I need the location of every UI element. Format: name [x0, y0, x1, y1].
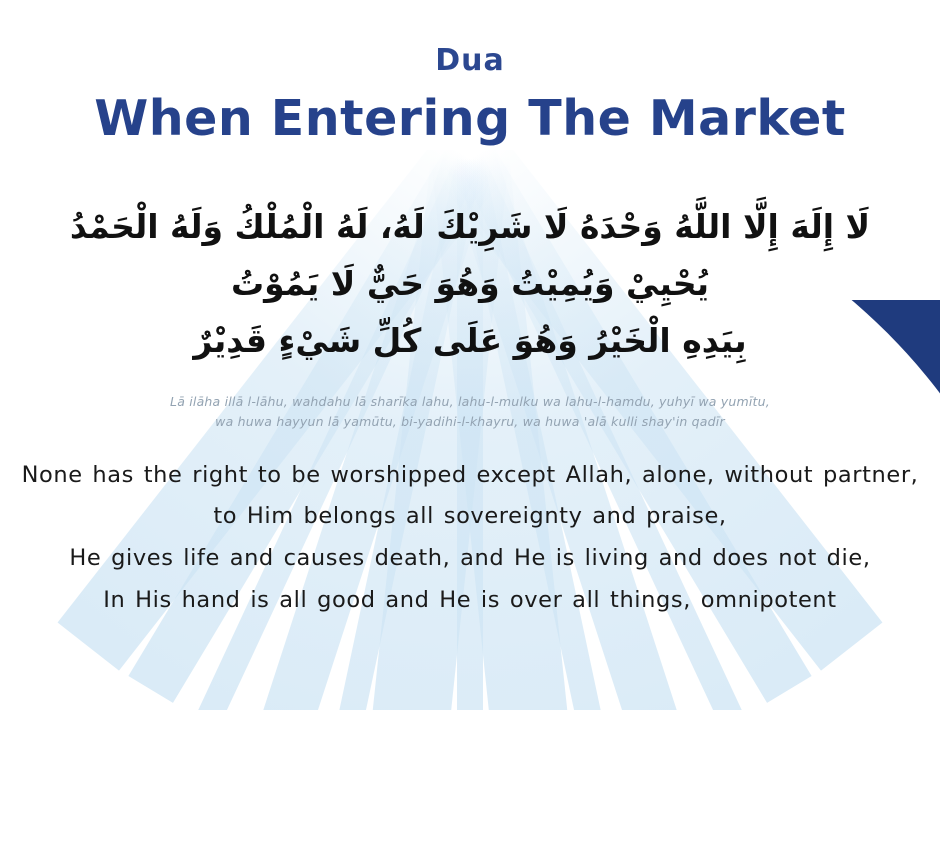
arabic-line: بِيَدِهِ الْخَيْرُ وَهُوَ عَلَى كُلِّ شَ… [30, 313, 910, 370]
translation-line: He gives life and causes death, and He i… [0, 538, 940, 580]
translation-line: to Him belongs all sovereignty and prais… [0, 496, 940, 538]
poster-content: Dua When Entering The Market لَا إِلَهَ … [0, 0, 940, 621]
translation-line: None has the right to be worshipped exce… [0, 455, 940, 497]
translation-line: In His hand is all good and He is over a… [0, 580, 940, 622]
arabic-dua-text: لَا إِلَهَ إِلَّا اللَّهُ وَحْدَهُ لَا ش… [0, 147, 940, 369]
transliteration-line: wa huwa hayyun lā yamūtu, bi-yadihi-l-kh… [0, 412, 940, 433]
dua-poster: Dua When Entering The Market لَا إِلَهَ … [0, 0, 940, 855]
arabic-line: لَا إِلَهَ إِلَّا اللَّهُ وَحْدَهُ لَا ش… [30, 199, 910, 256]
arabic-line: يُحْيِيْ وَيُمِيْتُ وَهُوَ حَيٌّ لَا يَم… [30, 256, 910, 313]
kicker-title: Dua [0, 0, 940, 77]
english-translation-text: None has the right to be worshipped exce… [0, 433, 940, 622]
transliteration-text: Lā ilāha illā l-lāhu, wahdahu lā sharīka… [0, 370, 940, 433]
transliteration-line: Lā ilāha illā l-lāhu, wahdahu lā sharīka… [0, 392, 940, 413]
page-title: When Entering The Market [0, 77, 940, 147]
